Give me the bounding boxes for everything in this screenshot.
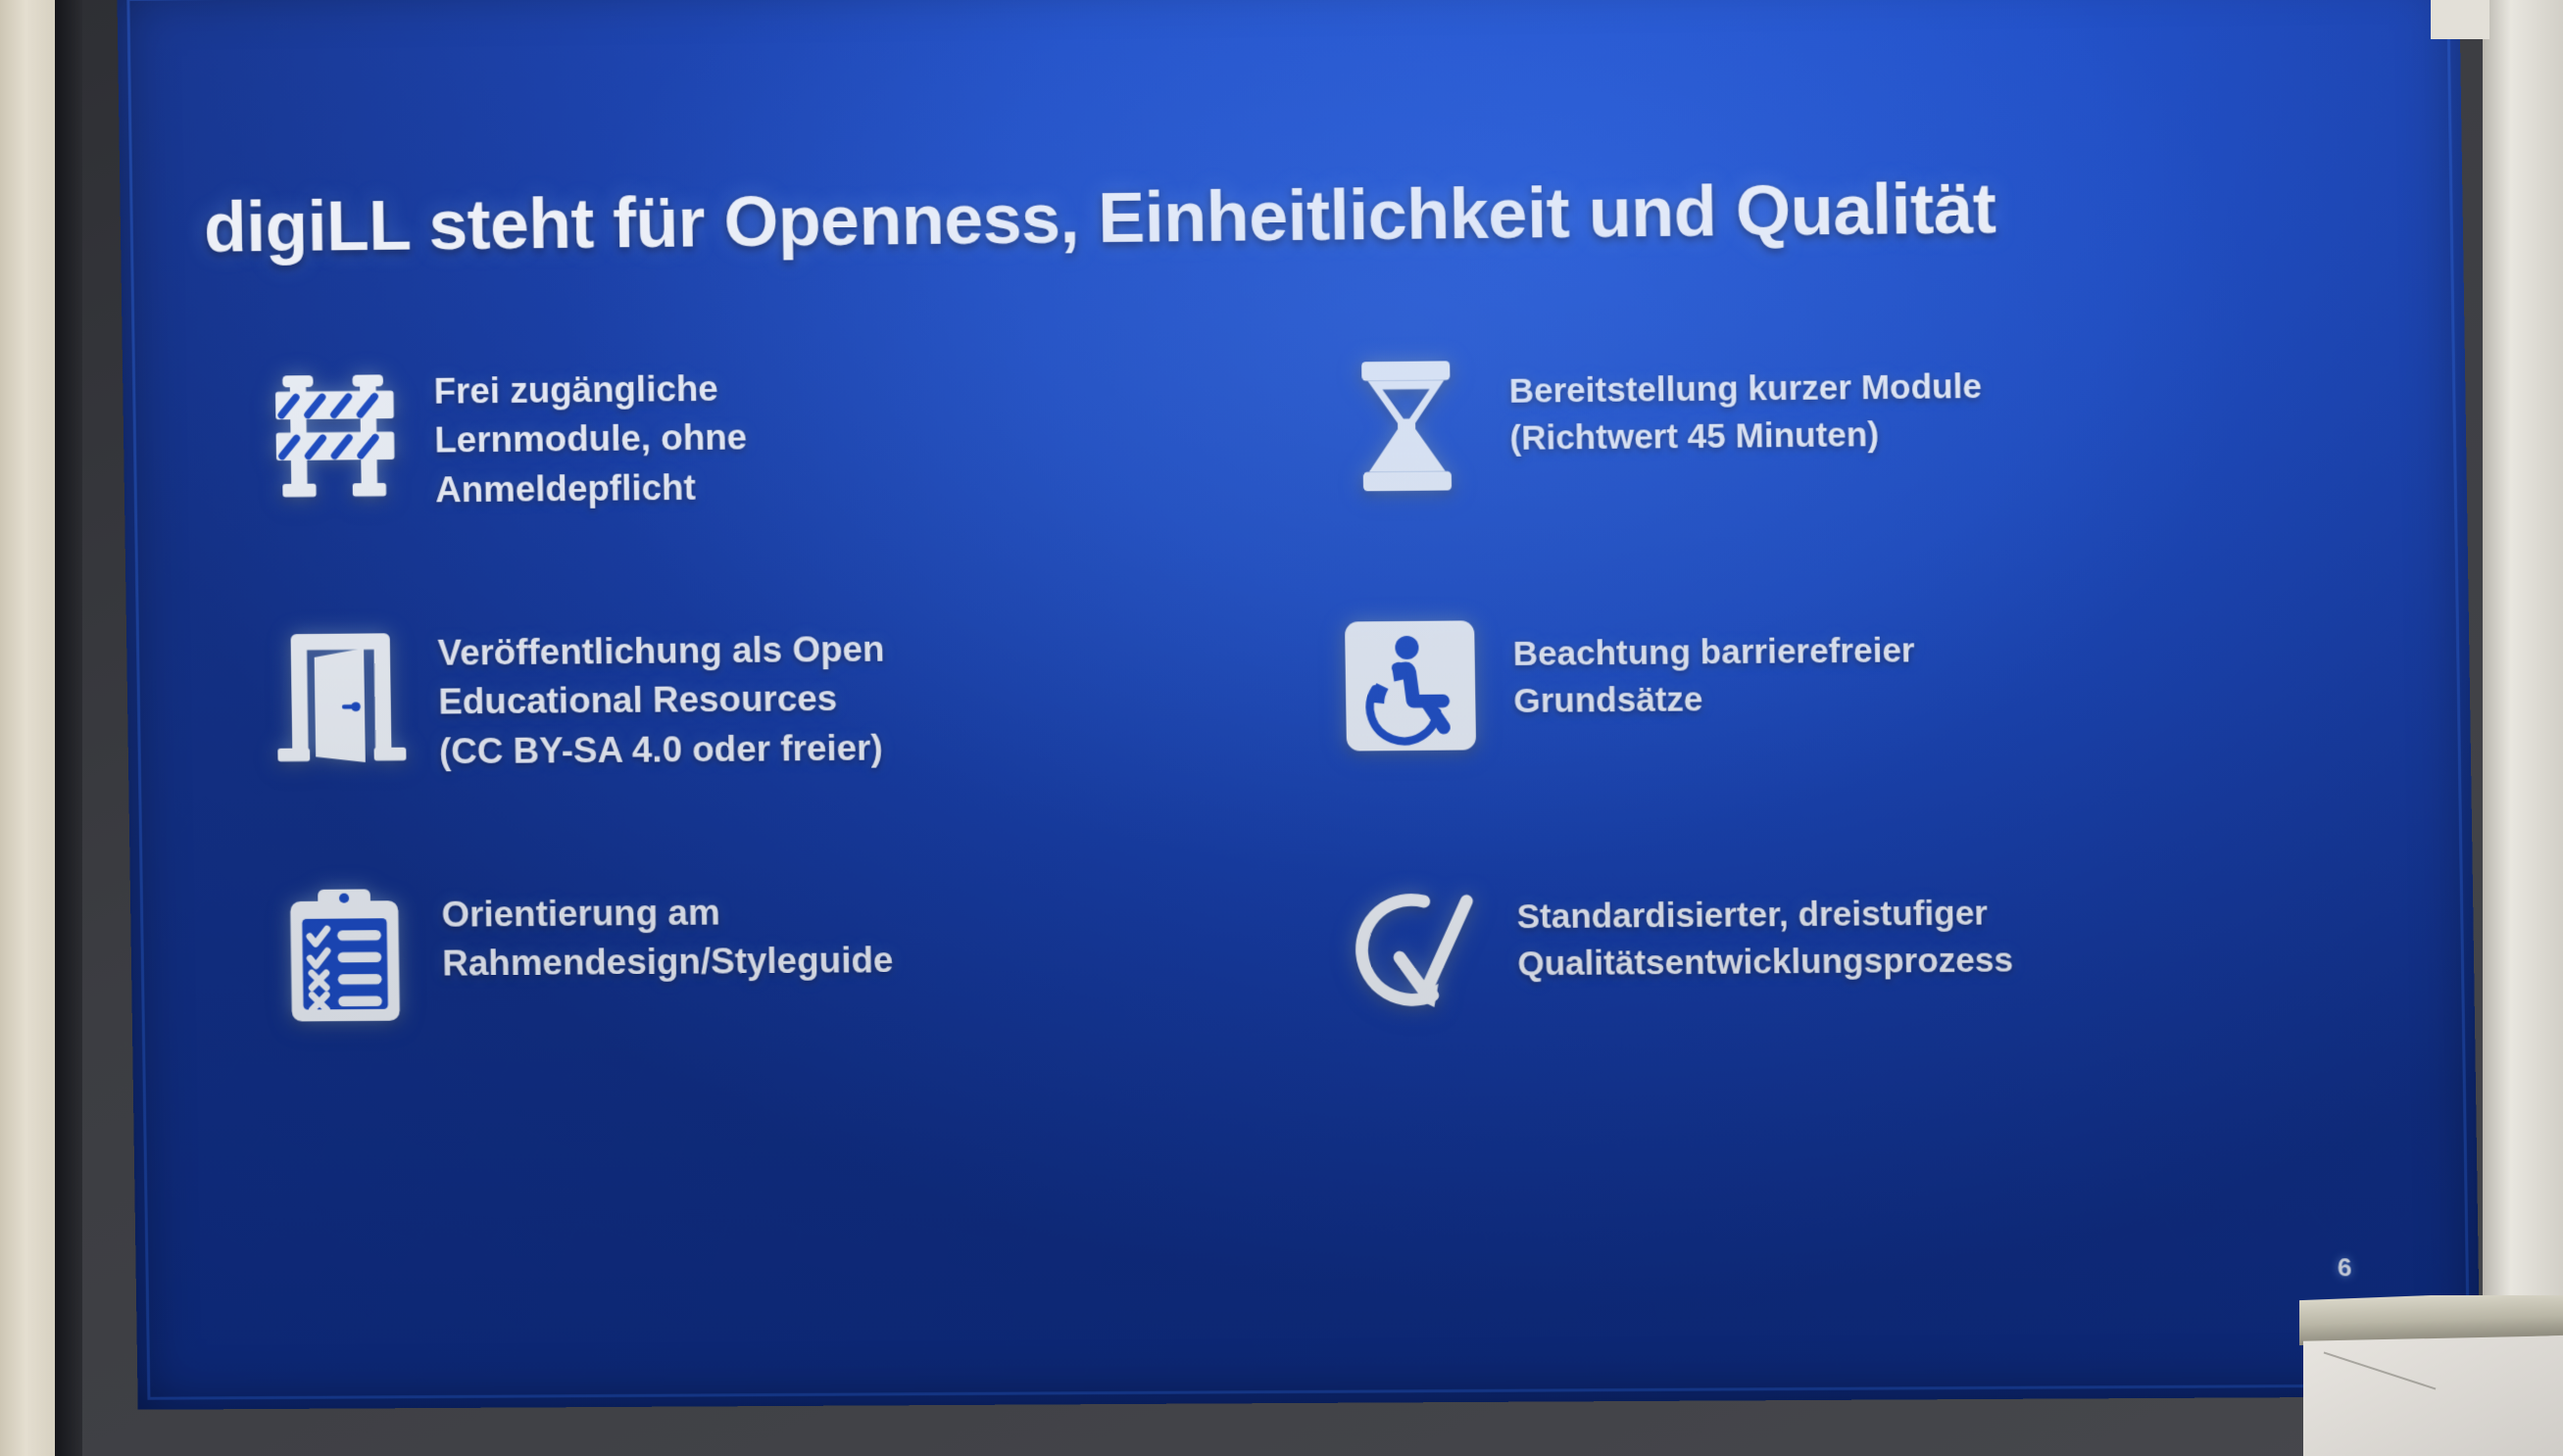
feature-line: Veröffentlichung als Open — [437, 622, 1239, 678]
feature-line: Beachtung barrierefreier — [1512, 624, 2321, 678]
feature-line: Frei zugängliche — [433, 360, 1234, 416]
clipboard-checklist-icon — [247, 877, 444, 1031]
page-title: digiLL steht für Openness, Einheitlichke… — [204, 169, 2341, 266]
feature-item-oer-license: Veröffentlichung als Open Educational Re… — [243, 608, 1242, 879]
wall-patch — [2431, 0, 2489, 39]
feature-item-free-access: Frei zugängliche Lernmodule, ohne Anmeld… — [239, 346, 1238, 617]
flipchart-paper — [2303, 1335, 2563, 1456]
feature-text: Frei zugängliche Lernmodule, ohne Anmeld… — [433, 346, 1236, 515]
feature-text: Veröffentlichung als Open Educational Re… — [437, 608, 1240, 777]
feature-text: Beachtung barrierefreier Grundsätze — [1512, 598, 2322, 724]
feature-text: Standardisierter, dreistufiger Qualitäts… — [1516, 862, 2326, 988]
feature-line: Standardisierter, dreistufiger — [1516, 888, 2325, 941]
feature-item-accessibility: Beachtung barrierefreier Grundsätze — [1306, 598, 2324, 869]
feature-item-styleguide: Orientierung am Rahmendesign/Styleguide — [247, 870, 1246, 1140]
feature-item-module-length: Bereitstellung kurzer Module (Richtwert … — [1303, 334, 2320, 607]
feature-line: Rahmendesign/Styleguide — [442, 934, 1244, 989]
wall-right — [2483, 0, 2563, 1456]
circular-arrow-check-icon — [1310, 868, 1519, 1023]
feature-column-left: Frei zugängliche Lernmodule, ohne Anmeld… — [239, 346, 1246, 1141]
flipchart-easel — [2299, 1295, 2563, 1456]
hourglass-icon — [1303, 343, 1510, 498]
feature-line: (CC BY-SA 4.0 oder freier) — [439, 720, 1241, 776]
open-door-icon — [243, 615, 440, 769]
feature-line: Anmeldepflicht — [435, 458, 1236, 514]
feature-line: Bereitstellung kurzer Module — [1508, 360, 2317, 414]
feature-column-right: Bereitstellung kurzer Module (Richtwert … — [1303, 334, 2328, 1132]
room-scene: digiLL steht für Openness, Einheitlichke… — [0, 0, 2563, 1456]
projection-screen: digiLL steht für Openness, Einheitlichke… — [0, 0, 2563, 1456]
presentation-slide[interactable]: digiLL steht für Openness, Einheitlichke… — [117, 0, 2480, 1410]
feature-line: Lernmodule, ohne — [434, 409, 1235, 465]
feature-line: Qualitätsentwicklungsprozess — [1517, 935, 2326, 988]
feature-line: (Richtwert 45 Minuten) — [1509, 407, 2318, 461]
feature-text: Bereitstellung kurzer Module (Richtwert … — [1508, 334, 2318, 461]
slide-content: digiLL steht für Openness, Einheitlichke… — [117, 0, 2480, 1410]
feature-line: Grundsätze — [1513, 670, 2322, 724]
feature-text: Orientierung am Rahmendesign/Styleguide — [441, 870, 1243, 989]
barrier-icon — [239, 354, 436, 508]
feature-item-quality-process: Standardisierter, dreistufiger Qualitäts… — [1310, 862, 2328, 1133]
slide-number: 6 — [2338, 1252, 2352, 1283]
wheelchair-accessibility-icon — [1306, 606, 1514, 760]
feature-line: Orientierung am — [441, 884, 1243, 940]
feature-line: Educational Resources — [438, 671, 1240, 727]
